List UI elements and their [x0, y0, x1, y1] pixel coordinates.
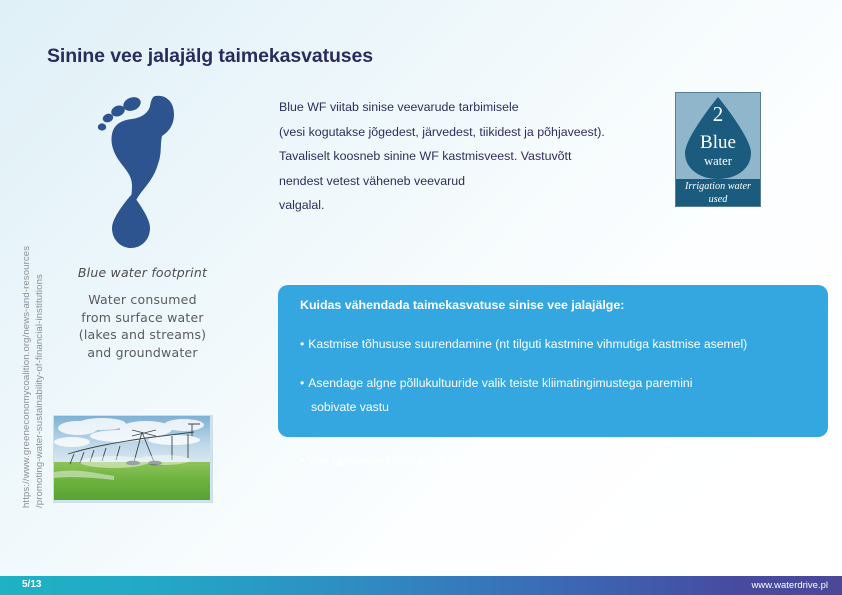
badge-line-water: water	[676, 155, 760, 168]
list-item-text: Asendage algne põllukultuuride valik tei…	[308, 376, 692, 390]
page-title: Sinine vee jalajälg taimekasvatuses	[47, 45, 373, 68]
bullet-icon: •	[300, 454, 304, 468]
badge-caption: Irrigation water used	[676, 179, 760, 206]
bullet-icon: •	[300, 376, 304, 390]
list-item-text: Kastmise tõhususe suurendamine (nt tilgu…	[308, 337, 747, 351]
center-pivot-irrigation-photo	[53, 415, 213, 503]
list-item: •Asendage algne põllukultuuride valik te…	[300, 361, 810, 430]
badge-drop-area: 2 Blue water	[676, 93, 760, 181]
callout-box: Kuidas vähendada taimekasvatuse sinise v…	[278, 285, 828, 437]
page-number: 5/13	[22, 579, 41, 590]
blue-water-footprint-icon	[88, 82, 198, 257]
source-url-vertical-label: https://www.greeneconomycoalition.org/ne…	[20, 178, 46, 508]
callout-bullet-list: •Kastmise tõhususe suurendamine (nt tilg…	[300, 322, 810, 469]
callout-heading: Kuidas vähendada taimekasvatuse sinise v…	[300, 298, 810, 312]
list-item: •Vee tarnimise sobiv ajastus ja kvantifi…	[300, 439, 810, 469]
list-item: •Kastmise tõhususe suurendamine (nt tilg…	[300, 322, 810, 352]
footer-bar: 5/13 www.waterdrive.pl	[0, 576, 842, 595]
footprint-caption-body: Water consumed from surface water (lakes…	[55, 291, 230, 361]
blue-water-badge: 2 Blue water Irrigation water used	[675, 92, 761, 207]
badge-line-blue: Blue	[676, 133, 760, 152]
bullet-icon: •	[300, 337, 304, 351]
body-paragraph: Blue WF viitab sinise veevarude tarbimis…	[279, 95, 659, 218]
footprint-caption-title: Blue water footprint	[55, 265, 230, 280]
footer-website-link[interactable]: www.waterdrive.pl	[751, 580, 828, 591]
list-item-continuation: sobivate vastu	[300, 400, 810, 415]
slide-canvas: Sinine vee jalajälg taimekasvatuses http…	[0, 0, 842, 595]
list-item-text: Vee tarnimise sobiv ajastus ja kvantifit…	[308, 454, 566, 468]
badge-number: 2	[676, 104, 760, 125]
blue-water-footprint-block: Blue water footprint Water consumed from…	[55, 82, 230, 361]
